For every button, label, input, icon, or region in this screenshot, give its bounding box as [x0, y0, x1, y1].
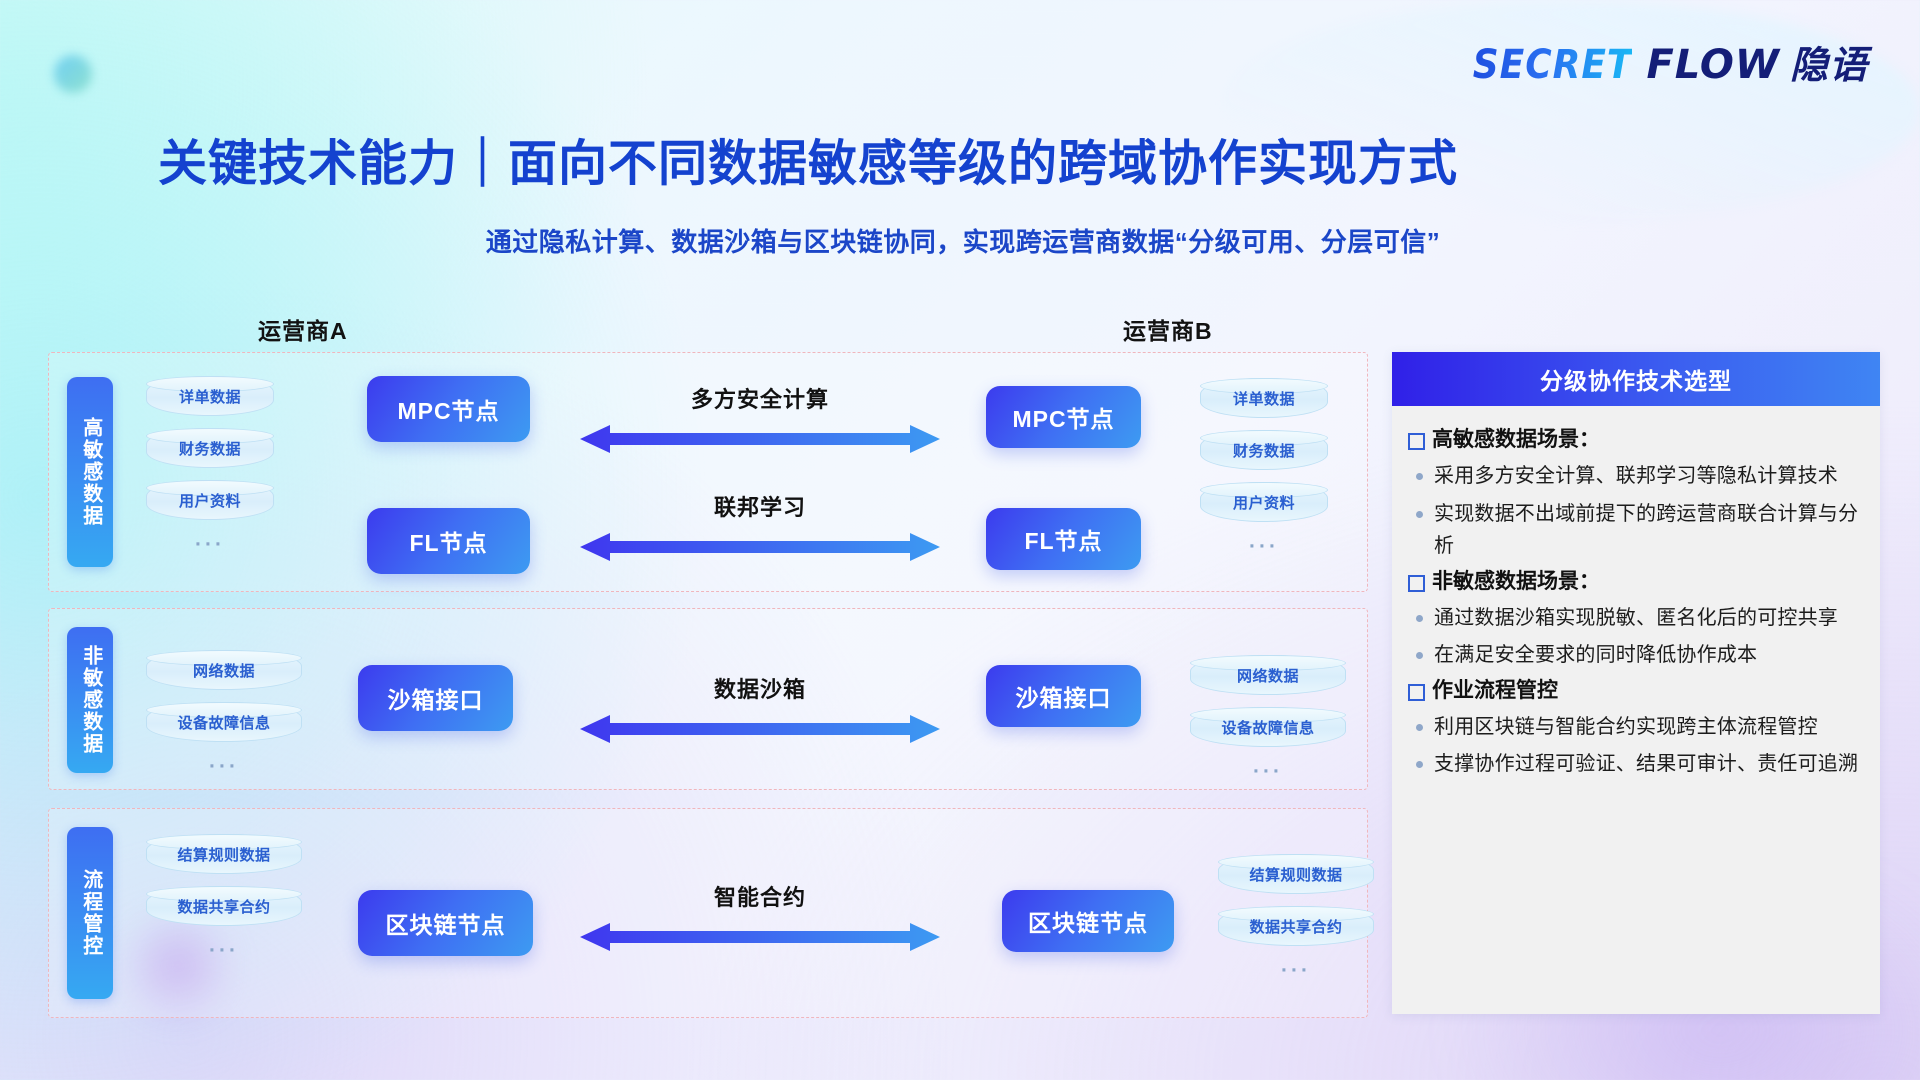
more-indicator: ···	[195, 534, 225, 555]
link-sandbox: 数据沙箱	[580, 672, 940, 744]
panel-bullet: 在满足安全要求的同时降低协作成本	[1416, 639, 1860, 671]
node-fl-right[interactable]: FL节点	[986, 508, 1141, 570]
panel-bullet-text: 支撑协作过程可验证、结果可审计、责任可追溯	[1434, 748, 1858, 780]
panel-section-heading: 作业流程管控	[1408, 677, 1860, 705]
page-title: 关键技术能力｜面向不同数据敏感等级的跨域协作实现方式	[158, 124, 1458, 195]
panel-bullet-text: 在满足安全要求的同时降低协作成本	[1434, 639, 1757, 671]
link-label-mpc: 多方安全计算	[580, 382, 940, 414]
square-bullet-icon	[1408, 684, 1425, 701]
stores-right-row3: 结算规则数据 数据共享合约 ···	[1218, 854, 1374, 981]
stores-right-row2: 网络数据 设备故障信息 ···	[1190, 655, 1346, 782]
datastore-card[interactable]: 网络数据	[1190, 655, 1346, 695]
panel-section-heading-text: 作业流程管控	[1432, 677, 1558, 705]
datastore-card[interactable]: 财务数据	[146, 428, 274, 468]
bidirectional-arrow-icon	[580, 424, 940, 454]
datastore-card[interactable]: 网络数据	[146, 650, 302, 690]
more-indicator: ···	[1249, 536, 1279, 557]
node-blockchain-right[interactable]: 区块链节点	[1002, 890, 1174, 952]
column-header-operator-b: 运营商B	[1123, 312, 1213, 346]
datastore-card[interactable]: 用户资料	[146, 480, 274, 520]
datastore-card[interactable]: 用户资料	[1200, 482, 1328, 522]
datastore-card[interactable]: 财务数据	[1200, 430, 1328, 470]
slide-canvas: SECRET FLOW 隐语 关键技术能力｜面向不同数据敏感等级的跨域协作实现方…	[0, 0, 1920, 1080]
datastore-card[interactable]: 数据共享合约	[146, 886, 302, 926]
node-blockchain-left[interactable]: 区块链节点	[358, 890, 533, 956]
more-indicator: ···	[209, 940, 239, 961]
panel-bullet: 实现数据不出域前提下的跨运营商联合计算与分析	[1416, 498, 1860, 563]
more-indicator: ···	[1281, 960, 1311, 981]
stores-left-row3: 结算规则数据 数据共享合约 ···	[146, 834, 302, 961]
datastore-card[interactable]: 详单数据	[146, 376, 274, 416]
datastore-card[interactable]: 设备故障信息	[146, 702, 302, 742]
link-label-fl: 联邦学习	[580, 490, 940, 522]
panel-bullet: 利用区块链与智能合约实现跨主体流程管控	[1416, 711, 1860, 743]
tech-selection-panel: 分级协作技术选型 高敏感数据场景： 采用多方安全计算、联邦学习等隐私计算技术 实…	[1392, 352, 1880, 1014]
dot-bullet-icon	[1416, 724, 1423, 731]
dot-bullet-icon	[1416, 761, 1423, 768]
datastore-card[interactable]: 结算规则数据	[146, 834, 302, 874]
panel-section-heading: 高敏感数据场景：	[1408, 426, 1860, 454]
node-mpc-right[interactable]: MPC节点	[986, 386, 1141, 448]
panel-body: 高敏感数据场景： 采用多方安全计算、联邦学习等隐私计算技术 实现数据不出域前提下…	[1392, 406, 1880, 1014]
panel-section-heading-text: 非敏感数据场景：	[1432, 568, 1600, 596]
square-bullet-icon	[1408, 575, 1425, 592]
band-tag-process-control: 流程管控	[67, 827, 113, 999]
panel-section-heading: 非敏感数据场景：	[1408, 568, 1860, 596]
datastore-card[interactable]: 设备故障信息	[1190, 707, 1346, 747]
brand-flow-text: FLOW	[1646, 42, 1780, 88]
more-indicator: ···	[1253, 761, 1283, 782]
node-fl-left[interactable]: FL节点	[367, 508, 530, 574]
page-subtitle: 通过隐私计算、数据沙箱与区块链协同，实现跨运营商数据“分级可用、分层可信”	[158, 222, 1768, 259]
panel-title: 分级协作技术选型	[1392, 352, 1880, 406]
dot-bullet-icon	[1416, 615, 1423, 622]
stores-right-row1: 详单数据 财务数据 用户资料 ···	[1200, 378, 1328, 557]
band-tag-non-sensitive: 非敏感数据	[67, 627, 113, 773]
decor-circle-top-left	[54, 55, 92, 93]
node-sandbox-left[interactable]: 沙箱接口	[358, 665, 513, 731]
datastore-card[interactable]: 数据共享合约	[1218, 906, 1374, 946]
node-mpc-left[interactable]: MPC节点	[367, 376, 530, 442]
panel-section-heading-text: 高敏感数据场景：	[1432, 426, 1600, 454]
brand-secret-text: SECRET	[1473, 42, 1633, 88]
brand-logo: SECRET FLOW 隐语	[1473, 34, 1868, 89]
link-fl: 联邦学习	[580, 490, 940, 562]
panel-bullet: 采用多方安全计算、联邦学习等隐私计算技术	[1416, 460, 1860, 492]
panel-bullet: 支撑协作过程可验证、结果可审计、责任可追溯	[1416, 748, 1860, 780]
link-label-smart-contract: 智能合约	[580, 880, 940, 912]
band-tag-high-sensitivity: 高敏感数据	[67, 377, 113, 567]
stores-left-row2: 网络数据 设备故障信息 ···	[146, 650, 302, 777]
column-header-operator-a: 运营商A	[258, 312, 348, 346]
dot-bullet-icon	[1416, 652, 1423, 659]
datastore-card[interactable]: 详单数据	[1200, 378, 1328, 418]
panel-bullet-text: 采用多方安全计算、联邦学习等隐私计算技术	[1434, 460, 1838, 492]
panel-bullet: 通过数据沙箱实现脱敏、匿名化后的可控共享	[1416, 602, 1860, 634]
panel-bullet-text: 实现数据不出域前提下的跨运营商联合计算与分析	[1434, 498, 1860, 563]
dot-bullet-icon	[1416, 473, 1423, 480]
link-label-sandbox: 数据沙箱	[580, 672, 940, 704]
bidirectional-arrow-icon	[580, 714, 940, 744]
dot-bullet-icon	[1416, 511, 1423, 518]
panel-bullet-text: 利用区块链与智能合约实现跨主体流程管控	[1434, 711, 1818, 743]
panel-bullet-text: 通过数据沙箱实现脱敏、匿名化后的可控共享	[1434, 602, 1838, 634]
brand-chinese-text: 隐语	[1790, 34, 1868, 89]
link-smart-contract: 智能合约	[580, 880, 940, 952]
bidirectional-arrow-icon	[580, 922, 940, 952]
stores-left-row1: 详单数据 财务数据 用户资料 ···	[146, 376, 274, 555]
square-bullet-icon	[1408, 433, 1425, 450]
datastore-card[interactable]: 结算规则数据	[1218, 854, 1374, 894]
bidirectional-arrow-icon	[580, 532, 940, 562]
more-indicator: ···	[209, 756, 239, 777]
link-mpc: 多方安全计算	[580, 382, 940, 454]
node-sandbox-right[interactable]: 沙箱接口	[986, 665, 1141, 727]
